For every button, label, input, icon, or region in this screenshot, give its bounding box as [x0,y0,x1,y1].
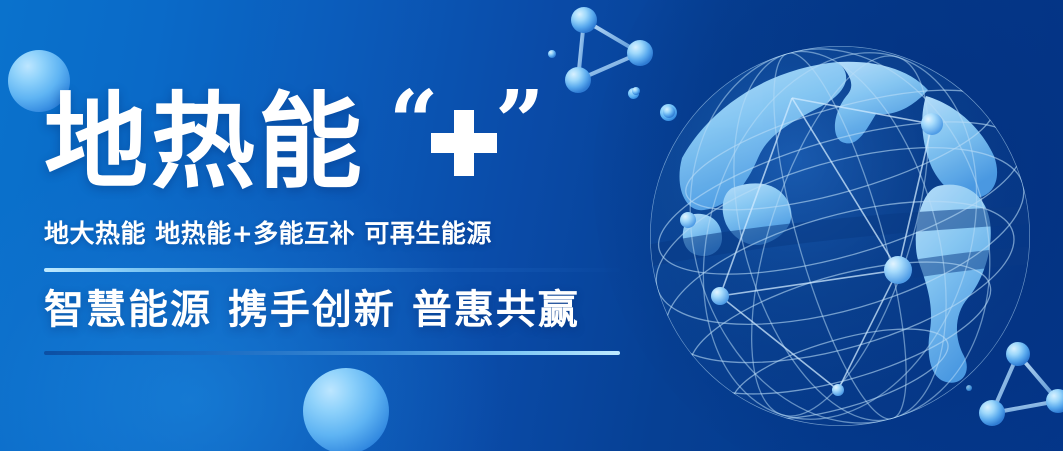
divider-bottom [44,351,620,355]
quoted-plus-emblem: “ ” [387,86,557,198]
banner-text-block: 地热能 “ ” 地大热能 地热能+多能互补 可再生能源 智慧能源 携手创新 普惠… [44,86,634,355]
title-row: 地热能 “ ” [44,86,634,208]
page-title: 地热能 [44,86,365,198]
globe-node [921,113,943,135]
banner-subtitle: 地大热能 地热能+多能互补 可再生能源 [44,218,634,250]
network-node [571,7,597,33]
globe-node [832,384,844,396]
globe-node [711,287,729,305]
quote-close-mark: ” [495,80,544,166]
network-node [1046,389,1063,413]
banner-tagline: 智慧能源 携手创新 普惠共赢 [44,286,634,334]
divider-top [44,268,620,272]
globe-node [884,256,912,284]
plus-icon [431,110,497,176]
network-dot [548,50,556,58]
geothermal-banner: 地热能 “ ” 地大热能 地热能+多能互补 可再生能源 智慧能源 携手创新 普惠… [0,0,1063,451]
decorative-sphere-bottom [303,368,389,451]
globe-graphic [642,38,1038,434]
globe-node [680,212,696,228]
